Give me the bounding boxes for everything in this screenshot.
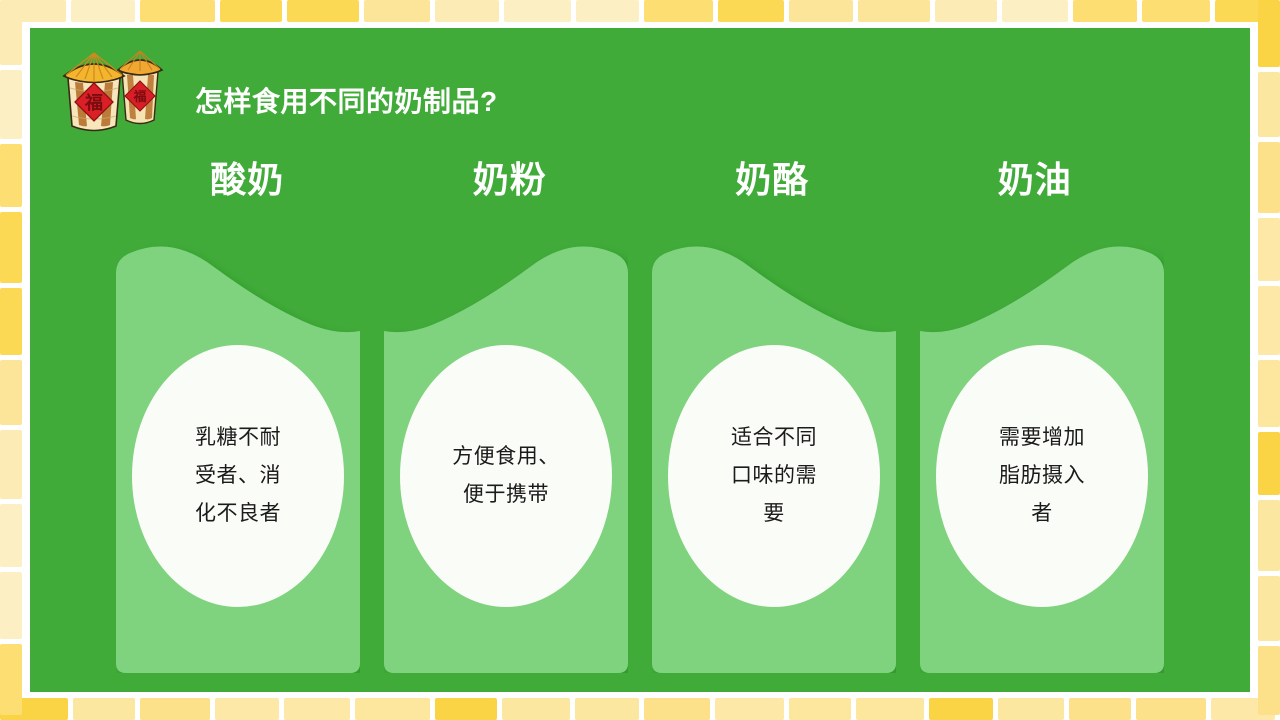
- border-tile: [140, 0, 215, 22]
- border-tile: [0, 144, 22, 207]
- column-heading-1: 奶粉: [379, 152, 642, 208]
- bubble-cheese: 适合不同 口味的需 要: [668, 345, 880, 607]
- border-tile: [0, 0, 22, 65]
- border-tile: [1258, 218, 1280, 281]
- border-tile: [1258, 646, 1280, 715]
- border-tile: [644, 0, 714, 22]
- border-tile: [1136, 698, 1206, 720]
- column-heading-3: 奶油: [904, 152, 1167, 208]
- border-tile: [856, 698, 924, 720]
- border-tile: [73, 698, 135, 720]
- border-tile: [935, 0, 997, 22]
- border-tile: [71, 0, 135, 22]
- border-tile: [0, 644, 22, 715]
- border-tile: [364, 0, 430, 22]
- border-tile: [0, 288, 22, 355]
- border-tile: [287, 0, 358, 22]
- border-tile: [1258, 0, 1280, 67]
- border-tile: [576, 0, 638, 22]
- bubble-text-cheese: 适合不同 口味的需 要: [731, 419, 817, 533]
- border-tile: [140, 698, 210, 720]
- border-tile: [0, 70, 22, 139]
- border-tile: [1258, 72, 1280, 137]
- slide-canvas: 福 福: [0, 0, 1280, 720]
- border-tile: [575, 698, 639, 720]
- border-tile: [0, 360, 22, 425]
- bubble-cream: 需要增加 脂肪摄入 者: [936, 345, 1148, 607]
- svg-text:福: 福: [132, 89, 146, 105]
- border-tile: [215, 698, 279, 720]
- bubble-milk-powder: 方便食用、 便于携带: [400, 345, 612, 607]
- page-title: 怎样食用不同的奶制品?: [195, 80, 498, 120]
- border-tile: [220, 0, 282, 22]
- svg-text:福: 福: [84, 92, 103, 114]
- border-tile: [435, 698, 497, 720]
- border-tile: [1258, 286, 1280, 355]
- border-tile: [789, 698, 851, 720]
- column-headings: 酸奶 奶粉 奶酪 奶油: [116, 152, 1166, 208]
- border-strip-bottom: [0, 698, 1280, 720]
- border-tile: [858, 0, 929, 22]
- card-yogurt[interactable]: 乳糖不耐 受者、消 化不良者: [116, 221, 360, 673]
- bubble-text-milk-powder: 方便食用、 便于携带: [452, 438, 560, 514]
- border-strip-left: [0, 0, 22, 720]
- border-strip-top: [0, 0, 1280, 22]
- column-heading-0: 酸奶: [116, 152, 379, 208]
- border-tile: [715, 698, 785, 720]
- border-tile: [789, 0, 853, 22]
- border-tile: [284, 698, 350, 720]
- content-panel: 福 福: [30, 28, 1250, 692]
- card-cheese[interactable]: 适合不同 口味的需 要: [652, 221, 896, 673]
- border-tile: [1069, 698, 1131, 720]
- border-tile: [929, 698, 993, 720]
- bubble-text-cream: 需要增加 脂肪摄入 者: [999, 419, 1085, 533]
- border-tile: [1142, 0, 1210, 22]
- border-tile: [355, 698, 430, 720]
- card-milk-powder[interactable]: 方便食用、 便于携带: [384, 221, 628, 673]
- border-tile: [0, 572, 22, 639]
- border-tile: [644, 698, 710, 720]
- column-heading-2: 奶酪: [641, 152, 904, 208]
- border-strip-right: [1258, 0, 1280, 720]
- border-tile: [1258, 360, 1280, 427]
- bubble-yogurt: 乳糖不耐 受者、消 化不良者: [132, 345, 344, 607]
- bubble-text-yogurt: 乳糖不耐 受者、消 化不良者: [195, 419, 281, 533]
- border-tile: [1258, 142, 1280, 213]
- border-tile: [502, 698, 570, 720]
- border-tile: [718, 0, 784, 22]
- border-tile: [0, 504, 22, 567]
- border-tile: [0, 212, 22, 283]
- slide-header: 福 福: [30, 28, 1250, 138]
- border-tile: [1258, 500, 1280, 571]
- grain-basket-fu-icon: 福 福: [56, 42, 176, 138]
- card-cream[interactable]: 需要增加 脂肪摄入 者: [920, 221, 1164, 673]
- border-tile: [0, 430, 22, 499]
- border-tile: [1258, 432, 1280, 495]
- border-tile: [504, 0, 572, 22]
- border-tile: [1073, 0, 1137, 22]
- border-tile: [435, 0, 499, 22]
- border-tile: [1002, 0, 1068, 22]
- border-tile: [1258, 576, 1280, 641]
- card-row: 乳糖不耐 受者、消 化不良者 方便: [116, 221, 1166, 681]
- border-tile: [998, 698, 1064, 720]
